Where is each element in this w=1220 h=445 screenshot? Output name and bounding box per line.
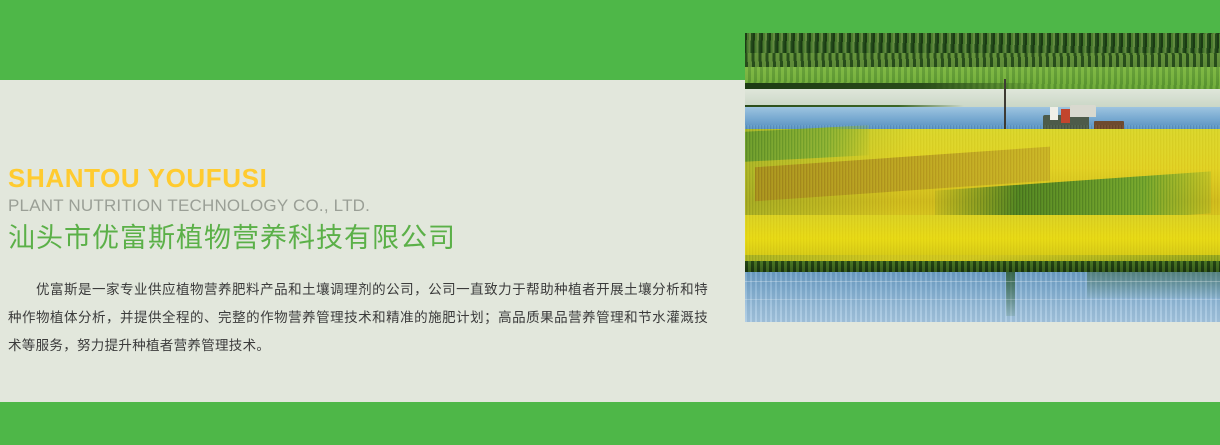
photo-reflection-bush [1006, 272, 1015, 316]
brand-name-english: SHANTOU YOUFUSI [8, 165, 267, 191]
photo-crop-texture [745, 125, 1220, 273]
company-intro-paragraph: 优富斯是一家专业供应植物营养肥料产品和土壤调理剂的公司，公司一直致力于帮助种植者… [8, 276, 708, 360]
brand-subtitle-english: PLANT NUTRITION TECHNOLOGY CO., LTD. [8, 197, 370, 214]
photo-worker-red [1061, 109, 1070, 123]
text-column: SHANTOU YOUFUSI PLANT NUTRITION TECHNOLO… [0, 80, 740, 402]
company-profile-page: SHANTOU YOUFUSI PLANT NUTRITION TECHNOLO… [0, 0, 1220, 445]
brand-name-chinese: 汕头市优富斯植物营养科技有限公司 [8, 221, 456, 256]
photo-harvester-canopy [1070, 105, 1096, 117]
photo-worker-white [1050, 107, 1058, 120]
photo-water-ripple-2 [745, 299, 1220, 300]
bottom-green-band [0, 402, 1220, 445]
photo-reflection-right [1087, 272, 1220, 298]
photo-water-ripple-1 [745, 281, 1220, 282]
rice-paddy-field-photo [745, 33, 1220, 322]
